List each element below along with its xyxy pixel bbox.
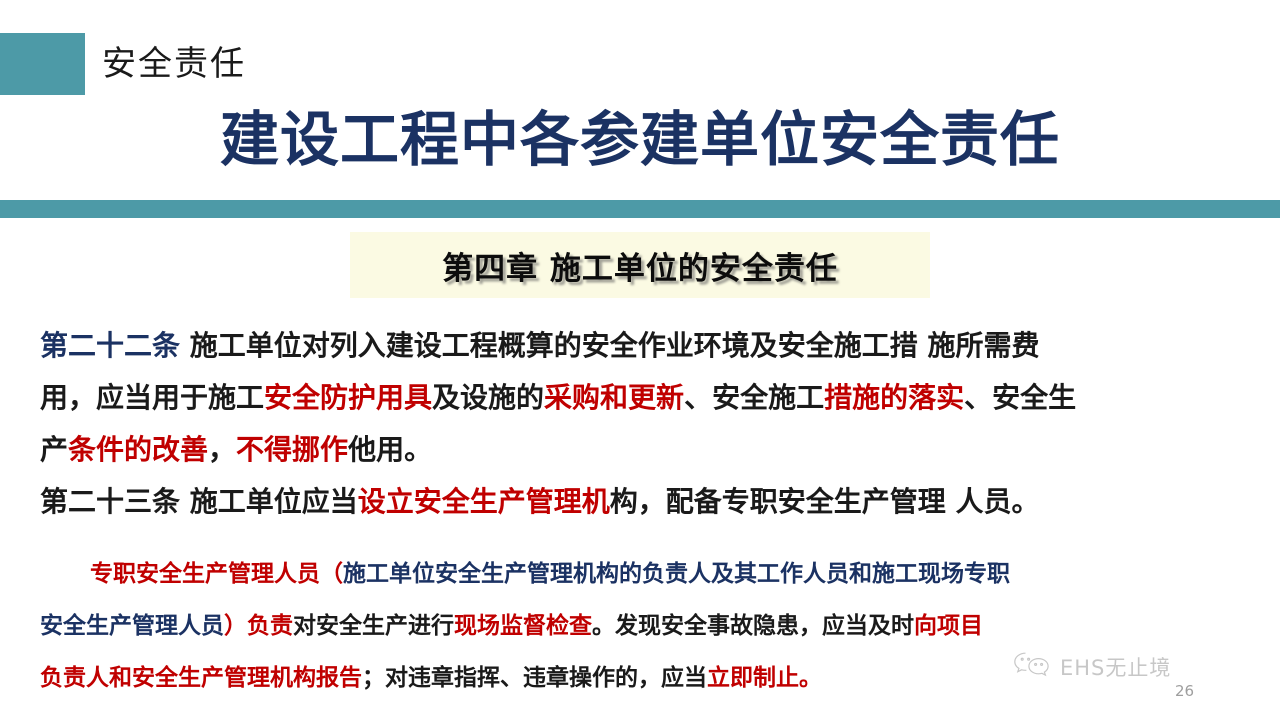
article-22-text-2c: 、安全施工 [684,381,824,414]
note-emph-to-project: 向项目 [914,613,983,639]
page-number: 26 [1175,682,1194,700]
note-line-1: 专职安全生产管理人员（施工单位安全生产管理机构的负责人及其工作人员和施工现场专职 [40,548,1250,600]
article-22-emph-no-diversion: 不得挪作 [236,433,348,466]
article-22-line-1: 第二十二条 施工单位对列入建设工程概算的安全作业环境及安全施工措 施所需费 [40,320,1250,372]
note-emph-stop-immediately: 立即制止。 [707,665,822,691]
slide-root: 安全责任 建设工程中各参建单位安全责任 第四章 施工单位的安全责任 第二十二条 … [0,0,1280,720]
header-divider [0,200,1280,218]
article-22-emph-conditions: 条件的改善 [68,433,208,466]
article-22-number: 第二十二条 [40,329,180,362]
article-body: 第二十二条 施工单位对列入建设工程概算的安全作业环境及安全施工措 施所需费 用，… [40,320,1250,528]
note-text-2b: 对安全生产进行 [293,613,454,639]
article-22-emph-procurement: 采购和更新 [544,381,684,414]
article-23-emph-establish-org: 设立安全生产管理机 [358,485,610,518]
article-22-text-1: 施工单位对列入建设工程概算的安全作业环境及安全施工措 施所需费 [180,329,1040,362]
article-22-text-2b: 及设施的 [432,381,544,414]
article-23-line-1: 第二十三条 施工单位应当设立安全生产管理机构，配备专职安全生产管理 人员。 [40,476,1250,528]
article-23-text-1b: 构，配备专职安全生产管理 人员。 [610,485,1040,518]
note-text-1: 施工单位安全生产管理机构的负责人及其工作人员和施工现场专职 [343,561,1010,587]
chapter-banner: 第四章 施工单位的安全责任 [350,232,930,298]
page-title: 建设工程中各参建单位安全责任 [0,104,1280,176]
chapter-banner-label: 第四章 施工单位的安全责任 [442,243,838,288]
wechat-icon [1012,650,1052,684]
article-22-text-2a: 用，应当用于施工 [40,381,264,414]
article-22-text-3b: ， [208,433,236,466]
accent-swatch [0,33,85,95]
section-kicker: 安全责任 [102,42,246,86]
note-text-3a: ；对违章指挥、违章操作的，应当 [362,665,707,691]
article-22-emph-measures: 措施的落实 [824,381,964,414]
note-text-2a: 安全生产管理人员 [40,613,224,639]
note-emph-responsible: ）负责 [224,613,293,639]
note-emph-report: 负责人和安全生产管理机构报告 [40,665,362,691]
article-22-line-2: 用，应当用于施工安全防护用具及设施的采购和更新、安全施工措施的落实、安全生 [40,372,1250,424]
article-22-text-3a: 产 [40,433,68,466]
watermark: EHS无止境 [1012,650,1171,684]
note-emph-site-inspection: 现场监督检查 [454,613,592,639]
article-22-emph-protective-gear: 安全防护用具 [264,381,432,414]
slide-header: 安全责任 建设工程中各参建单位安全责任 [0,0,1280,200]
article-22-line-3: 产条件的改善，不得挪作他用。 [40,424,1250,476]
note-text-2c: 。发现安全事故隐患，应当及时 [592,613,914,639]
article-22-text-3c: 他用。 [348,433,432,466]
article-22-text-2d: 、安全生 [964,381,1076,414]
note-line-2: 安全生产管理人员）负责对安全生产进行现场监督检查。发现安全事故隐患，应当及时向项… [40,600,1250,652]
watermark-label: EHS无止境 [1060,652,1171,682]
note-emph-fulltime-staff: 专职安全生产管理人员（ [90,561,343,587]
article-23-text-1a: 第二十三条 施工单位应当 [40,485,358,518]
